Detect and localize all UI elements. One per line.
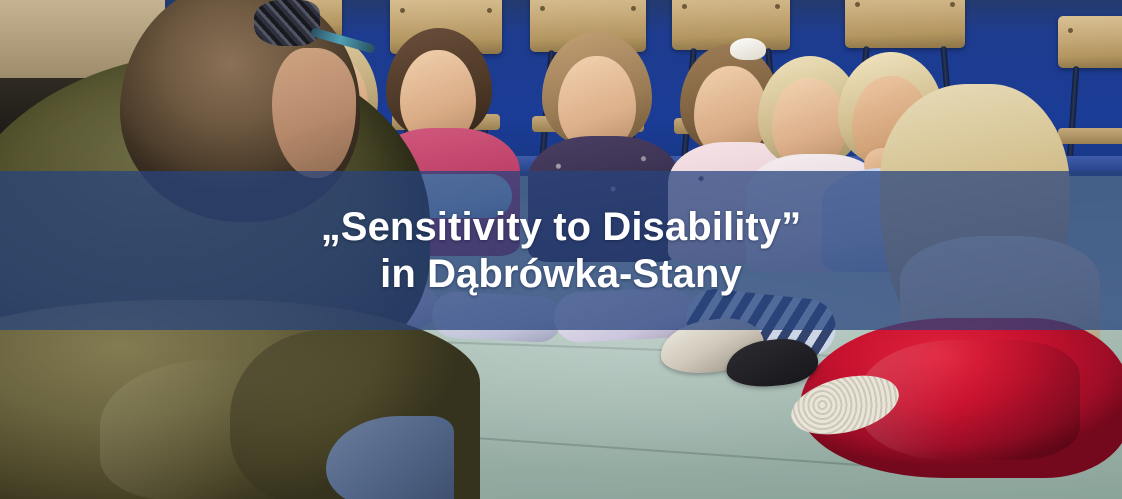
- chair-screw: [400, 8, 405, 13]
- adult-hair-clip: [254, 0, 320, 46]
- banner-title-line-2: in Dąbrówka-Stany: [380, 251, 742, 298]
- chair-screw: [487, 8, 492, 13]
- hero-banner: „Sensitivity to Disability” in Dąbrówka-…: [0, 0, 1122, 499]
- chair-seatpan: [1058, 128, 1122, 144]
- chair-screw: [631, 6, 636, 11]
- chair-seatback: [1058, 16, 1122, 68]
- chair-screw: [775, 4, 780, 9]
- chair-screw: [950, 2, 955, 7]
- chair-screw: [540, 6, 545, 11]
- chair-leg: [1067, 66, 1080, 162]
- chair-screw: [855, 2, 860, 7]
- banner-title-block: „Sensitivity to Disability” in Dąbrówka-…: [0, 171, 1122, 330]
- chair-seatback: [845, 0, 965, 48]
- chair-seatback: [672, 0, 790, 50]
- chair-screw: [1068, 28, 1073, 33]
- banner-title-line-1: „Sensitivity to Disability”: [321, 204, 802, 251]
- chair-5: [1058, 16, 1122, 176]
- chair-screw: [682, 4, 687, 9]
